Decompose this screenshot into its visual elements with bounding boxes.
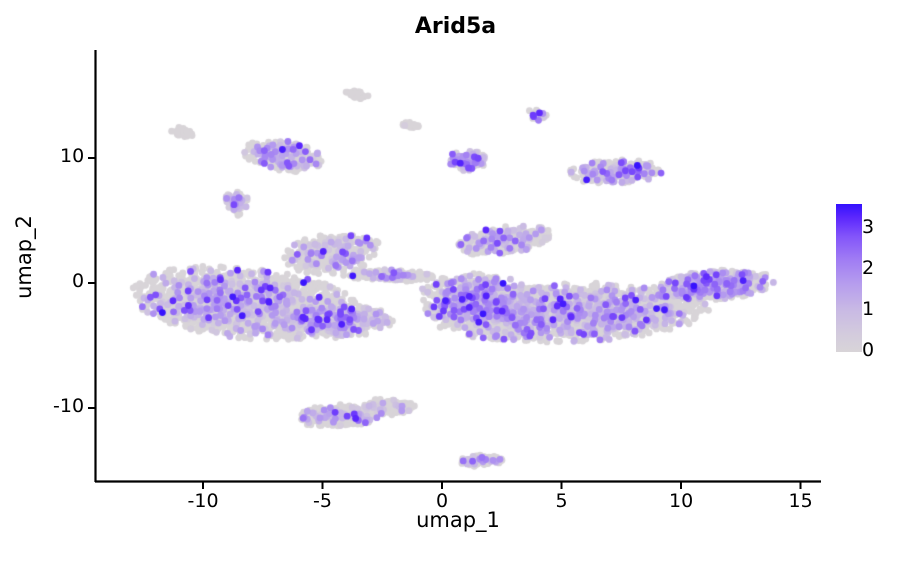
y-tick-label: 10 xyxy=(60,145,84,167)
y-axis-label: umap_2 xyxy=(12,197,36,317)
colorbar-tick-label: 3 xyxy=(862,216,874,238)
colorbar-tick-label: 0 xyxy=(862,339,874,361)
colorbar-tick-label: 1 xyxy=(862,298,874,320)
colorbar-gradient xyxy=(836,204,862,352)
x-axis-label: umap_1 xyxy=(95,508,821,532)
colorbar xyxy=(836,204,862,352)
umap-feature-plot: Arid5a -10-5051015-10010 umap_1 umap_2 0… xyxy=(0,0,911,562)
axes-svg xyxy=(0,0,911,562)
axis-ticks xyxy=(88,158,862,489)
y-tick-label: 0 xyxy=(72,270,84,292)
colorbar-tick-label: 2 xyxy=(862,257,874,279)
y-tick-label: -10 xyxy=(53,395,84,417)
